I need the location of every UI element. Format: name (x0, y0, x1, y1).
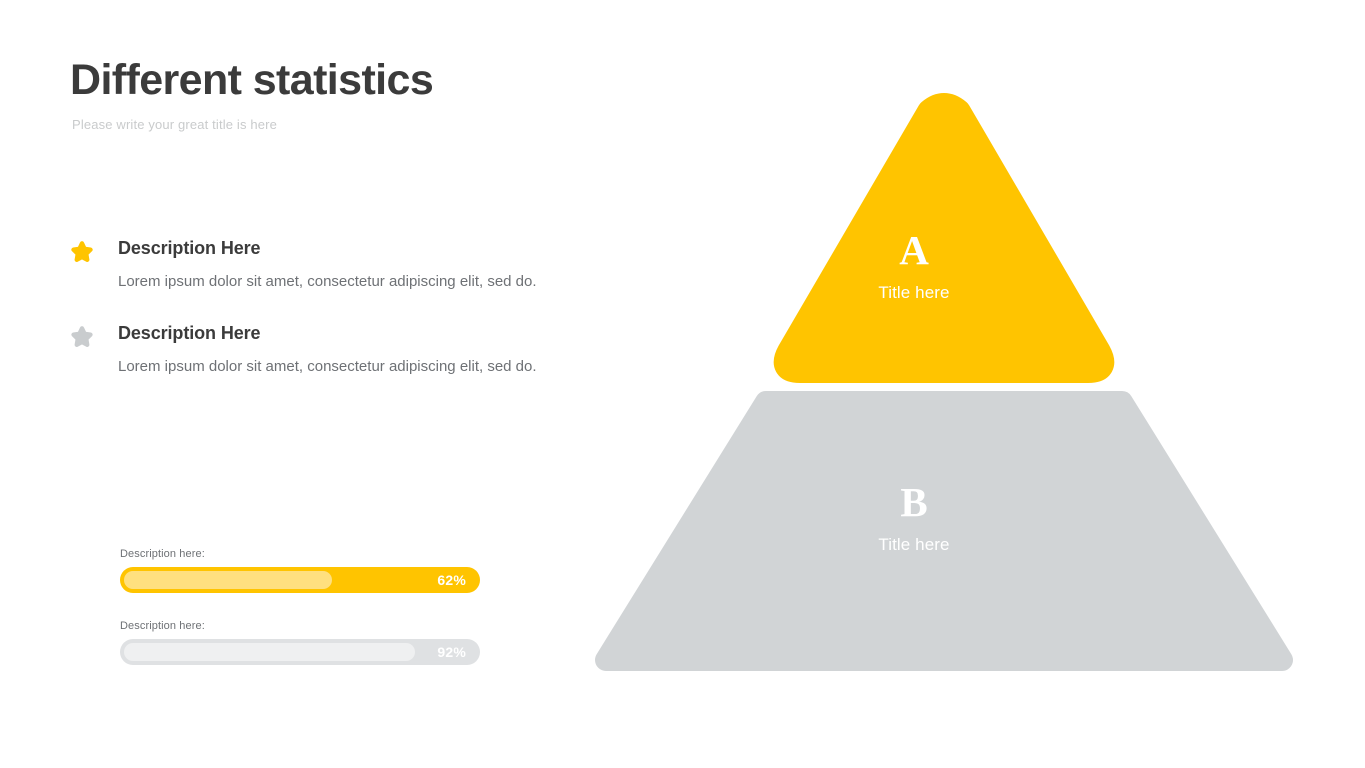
progress-bar-value: 62% (437, 572, 466, 588)
star-icon (70, 240, 94, 264)
feature-text: Lorem ipsum dolor sit amet, consectetur … (118, 269, 558, 295)
feature-text: Lorem ipsum dolor sit amet, consectetur … (118, 354, 558, 380)
list-item[interactable]: Description Here Lorem ipsum dolor sit a… (70, 323, 630, 380)
feature-title: Description Here (118, 238, 630, 259)
progress-bar-item: Description here: 92% (120, 620, 480, 665)
feature-body: Description Here Lorem ipsum dolor sit a… (118, 323, 630, 380)
pyramid-diagram: A Title here B Title here (590, 90, 1310, 690)
pyramid-level-b-shape (606, 402, 1282, 660)
progress-bar-fill (124, 571, 332, 589)
progress-bar-label: Description here: (120, 548, 480, 560)
progress-bar-group: Description here: 62% Description here: … (120, 548, 480, 692)
page-title: Different statistics (70, 58, 630, 103)
progress-bar-label: Description here: (120, 620, 480, 632)
feature-body: Description Here Lorem ipsum dolor sit a… (118, 238, 630, 295)
progress-bar-track[interactable]: 62% (120, 567, 480, 593)
header-block: Different statistics Please write your g… (70, 58, 630, 132)
pyramid-level-a-shape (787, 106, 1102, 370)
progress-bar-item: Description here: 62% (120, 548, 480, 593)
feature-list: Description Here Lorem ipsum dolor sit a… (70, 238, 630, 408)
slide-canvas: Different statistics Please write your g… (0, 0, 1365, 768)
progress-bar-value: 92% (437, 644, 466, 660)
feature-title: Description Here (118, 323, 630, 344)
list-item[interactable]: Description Here Lorem ipsum dolor sit a… (70, 238, 630, 295)
page-subtitle: Please write your great title is here (72, 117, 630, 132)
star-icon (70, 325, 94, 349)
progress-bar-fill (124, 643, 415, 661)
progress-bar-track[interactable]: 92% (120, 639, 480, 665)
